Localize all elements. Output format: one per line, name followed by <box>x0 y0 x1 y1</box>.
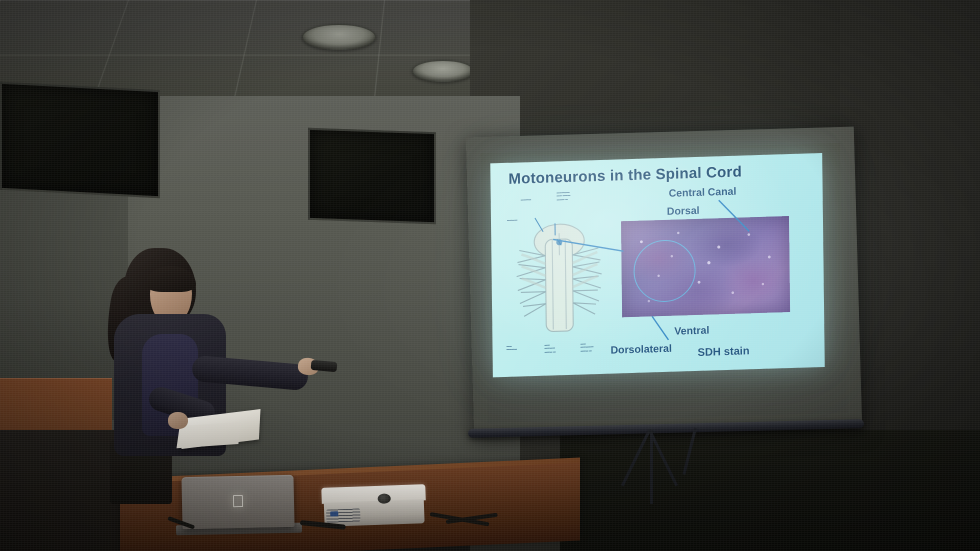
diagram-annotation-tiny: ▬▬▬▬▬ ▬▬ ▬▬▬ ▬▬▬ ▬ <box>557 191 571 202</box>
laptop[interactable]:  <box>181 475 294 529</box>
presenter <box>96 248 336 508</box>
window-panel <box>308 128 436 224</box>
slide-label-dorsolateral: Dorsolateral <box>610 343 671 357</box>
diagram-annotation-tiny: ▬▬ ▬▬▬▬▬ ▬▬▬ ▬ <box>580 342 593 353</box>
slide-title: Motoneurons in the Spinal Cord <box>508 163 742 187</box>
projector-vga-port[interactable] <box>330 511 338 516</box>
diagram-annotation-tiny: ▬▬▬▬ <box>507 219 517 223</box>
spinal-cord-svg <box>505 208 615 361</box>
slide-label-dorsal: Dorsal <box>667 205 700 218</box>
apple-logo-icon:  <box>230 492 246 511</box>
floor <box>560 430 980 551</box>
diagram-annotation-tiny: ▬▬▬▬ <box>521 198 531 202</box>
histology-micrograph <box>621 216 790 317</box>
window-panel <box>0 82 160 198</box>
presentation-remote[interactable] <box>311 360 338 372</box>
lecture-room-scene: Motoneurons in the Spinal Cord <box>0 0 980 551</box>
tripod-leg <box>650 430 653 504</box>
projection-screen[interactable]: Motoneurons in the Spinal Cord <box>466 127 862 438</box>
ceiling-light-icon <box>412 60 474 82</box>
slide-label-sdh-stain: SDH stain <box>698 345 750 359</box>
presenter-left-hand <box>168 412 188 429</box>
ceiling-light-icon <box>302 24 376 50</box>
presentation-slide[interactable]: Motoneurons in the Spinal Cord <box>490 153 825 377</box>
diagram-annotation-tiny: ▬▬ ▬▬▬▬ <box>506 345 516 352</box>
slide-label-ventral: Ventral <box>674 325 709 338</box>
diagram-annotation-tiny: ▬▬ ▬▬▬▬ ▬▬▬ ▬ <box>544 343 555 354</box>
spinal-cord-diagram-icon <box>505 208 615 361</box>
slide-label-central-canal: Central Canal <box>669 186 737 200</box>
